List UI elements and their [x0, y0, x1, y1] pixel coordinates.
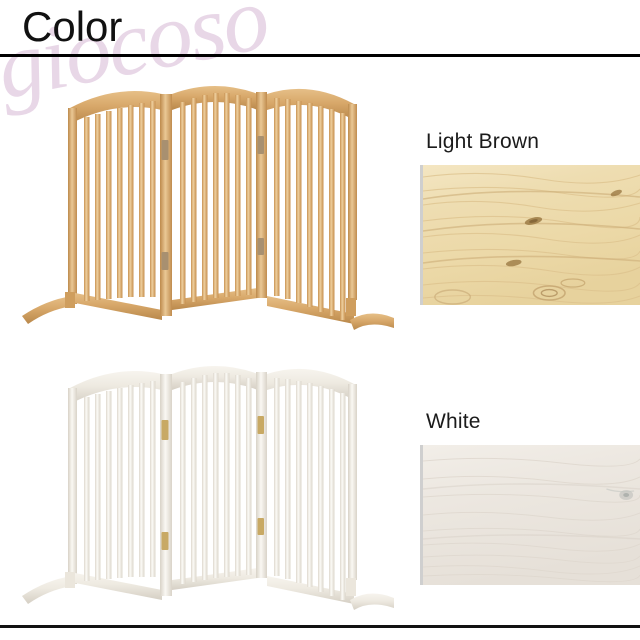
color-option-white[interactable]: White	[0, 340, 640, 620]
title-divider	[0, 54, 640, 57]
gate-hinge-post-right	[256, 372, 267, 578]
hinge-icon	[258, 518, 265, 535]
swatch-chip-white[interactable]	[420, 445, 640, 585]
hinge-icon	[258, 136, 265, 154]
hinge-icon	[162, 420, 169, 440]
gate-panel-right	[267, 89, 357, 324]
swatch-light-brown[interactable]: Light Brown	[420, 60, 640, 340]
gate-hinge-post-right	[256, 92, 267, 298]
product-photo-light-brown	[10, 70, 406, 332]
hinge-icon	[162, 532, 169, 550]
gate-panel-right	[267, 369, 357, 604]
swatch-white[interactable]: White	[420, 340, 640, 620]
gate-panel-middle	[172, 366, 258, 590]
product-photo-white	[10, 350, 406, 612]
gate-panel-middle	[172, 86, 258, 310]
hinge-icon	[162, 252, 169, 270]
gate-hinge-post-left	[160, 94, 172, 316]
gate-hinge-post-left	[160, 374, 172, 596]
gate-foot-left	[22, 572, 75, 604]
hinge-icon	[258, 416, 265, 434]
color-option-light-brown[interactable]: Light Brown	[0, 60, 640, 340]
page-title: Color	[22, 2, 122, 52]
gate-panel-left	[68, 91, 162, 320]
gate-foot-right	[346, 578, 394, 610]
swatch-label-light-brown: Light Brown	[426, 130, 539, 154]
page-header: Color	[0, 0, 640, 60]
gate-panel-left	[68, 371, 162, 600]
swatch-label-white: White	[426, 410, 481, 434]
bottom-divider	[0, 625, 640, 628]
hinge-icon	[258, 238, 265, 255]
hinge-icon	[162, 140, 169, 160]
gate-foot-left	[22, 292, 75, 324]
gate-foot-right	[346, 298, 394, 330]
swatch-chip-light-brown[interactable]	[420, 165, 640, 305]
